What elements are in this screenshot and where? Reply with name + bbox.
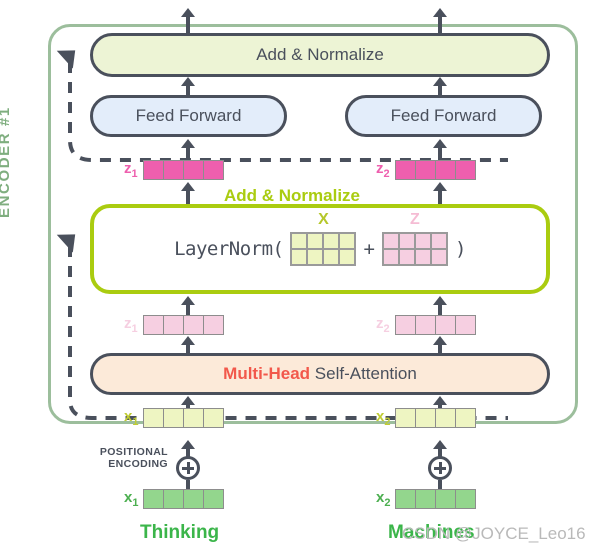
vector-x2-encoder-input: x2: [376, 408, 476, 428]
feed-forward-right-label: Feed Forward: [391, 106, 497, 126]
vector-z2-top: z2: [376, 160, 476, 180]
add-normalize-top-box[interactable]: Add & Normalize: [90, 33, 550, 77]
output-arrow-right: [433, 8, 447, 36]
vector-z1-top-cells: [143, 160, 224, 180]
layernorm-box[interactable]: LayerNorm( X + Z ): [90, 204, 550, 294]
multi-head-self-attention-label: Multi-Head Self-Attention: [223, 364, 417, 384]
vector-x2-embedding: x2: [376, 489, 476, 509]
input-word-1: Thinking: [140, 522, 219, 544]
vector-z2-mid-label: z2: [376, 315, 390, 335]
vector-z1-top-label: z1: [124, 160, 138, 180]
z2-to-ff-arrow: [433, 139, 447, 161]
vector-x2-encoder-label: x2: [376, 408, 390, 428]
vector-x1-encoder-input: x1: [124, 408, 224, 428]
matrix-x: X: [290, 232, 356, 266]
matrix-x-grid: [290, 232, 356, 266]
feed-forward-left-box[interactable]: Feed Forward: [90, 95, 287, 137]
multi-head-self-attention-box[interactable]: Multi-Head Self-Attention: [90, 353, 550, 395]
vector-z2-top-cells: [395, 160, 476, 180]
layernorm-to-z1-arrow: [181, 182, 195, 204]
vector-z2-top-label: z2: [376, 160, 390, 180]
multi-head-accent-text: Multi-Head: [223, 364, 310, 383]
matrix-z-label: Z: [410, 211, 420, 229]
add-normalize-mid-label: Add & Normalize: [224, 186, 360, 206]
matrix-z: Z: [382, 232, 448, 266]
vector-x1-embedding-label: x1: [124, 489, 138, 509]
positional-encoding-plus-icon-right: [428, 456, 452, 480]
matrix-x-label: X: [318, 211, 329, 229]
watermark: CSDN @JOYCE_Leo16: [402, 524, 586, 544]
output-arrow-left: [181, 8, 195, 36]
matrix-z-grid: [382, 232, 448, 266]
vector-z2-mid-cells: [395, 315, 476, 335]
vector-x1-embedding-cells: [143, 489, 224, 509]
vector-x2-embedding-cells: [395, 489, 476, 509]
z1-to-ff-arrow: [181, 139, 195, 161]
feed-forward-right-box[interactable]: Feed Forward: [345, 95, 542, 137]
vector-x1-embedding: x1: [124, 489, 224, 509]
vector-x2-encoder-cells: [395, 408, 476, 428]
vector-z1-mid-label: z1: [124, 315, 138, 335]
layernorm-open-paren: LayerNorm(: [174, 238, 283, 260]
positional-encoding-line2: ENCODING: [108, 458, 168, 470]
positional-encoding-plus-icon-left: [176, 456, 200, 480]
ff-right-to-addnorm-arrow: [433, 77, 447, 95]
add-normalize-top-label: Add & Normalize: [256, 45, 384, 65]
layernorm-close-paren: ): [455, 238, 466, 260]
vector-z2-mid: z2: [376, 315, 476, 335]
vector-x1-encoder-cells: [143, 408, 224, 428]
diagram-canvas: ENCODER #1 Add & Normalize Feed Forward …: [0, 0, 606, 552]
vector-z1-mid-cells: [143, 315, 224, 335]
feed-forward-left-label: Feed Forward: [136, 106, 242, 126]
vector-z1-top: z1: [124, 160, 224, 180]
vector-x2-embedding-label: x2: [376, 489, 390, 509]
layernorm-plus-sign: +: [363, 238, 374, 260]
positional-encoding-label: POSITIONAL ENCODING: [80, 446, 168, 470]
vector-x1-encoder-label: x1: [124, 408, 138, 428]
layernorm-to-z2-arrow: [433, 182, 447, 204]
positional-encoding-line1: POSITIONAL: [100, 446, 168, 458]
encoder-label: ENCODER #1: [0, 38, 13, 218]
self-attention-text: Self-Attention: [310, 364, 417, 383]
ff-left-to-addnorm-arrow: [181, 77, 195, 95]
vector-z1-mid: z1: [124, 315, 224, 335]
